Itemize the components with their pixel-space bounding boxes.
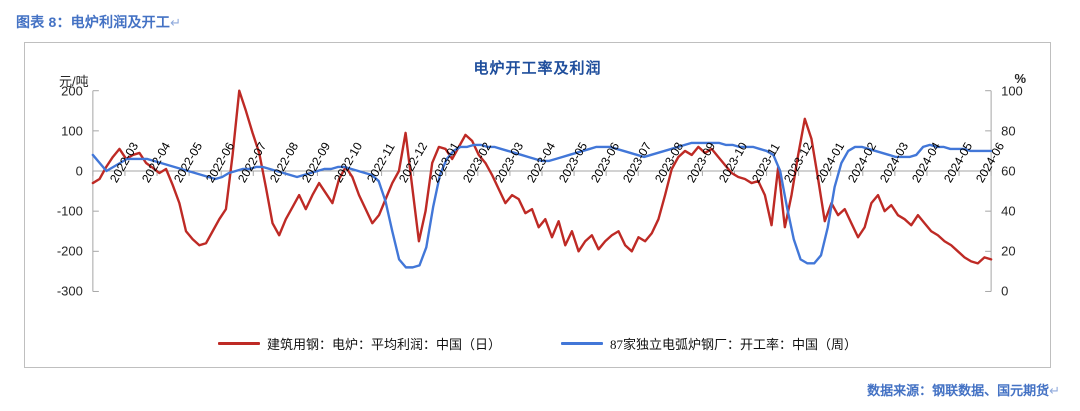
data-source-note: 数据来源：钢联数据、国元期货↵ (867, 380, 1060, 399)
y-tick-right: 0 (1001, 284, 1008, 299)
figure-caption-text: 图表 8：电炉利润及开工 (16, 14, 170, 30)
y-tick-left: -100 (25, 204, 83, 219)
legend-item-operating-rate[interactable]: 87家独立电弧炉钢厂：开工率：中国（周） (561, 334, 857, 353)
legend-swatch-operating-rate (561, 342, 603, 345)
legend-swatch-profit (218, 342, 260, 345)
y-tick-right: 100 (1001, 83, 1023, 98)
y-tick-left: 200 (25, 83, 83, 98)
y-tick-left: 0 (25, 164, 83, 179)
figure-panel: 图表 8：电炉利润及开工↵ 电炉开工率及利润 元/吨 % -300-200-10… (0, 0, 1080, 411)
paragraph-mark-icon-2: ↵ (1049, 383, 1060, 398)
paragraph-mark-icon: ↵ (170, 15, 181, 30)
y-tick-left: 100 (25, 123, 83, 138)
legend-label-operating-rate: 87家独立电弧炉钢厂：开工率：中国（周） (610, 334, 857, 353)
chart-container: 电炉开工率及利润 元/吨 % -300-200-1000100200 02040… (24, 42, 1051, 368)
y-tick-right: 20 (1001, 244, 1015, 259)
legend-label-profit: 建筑用钢：电炉：平均利润：中国（日） (267, 334, 501, 353)
y-tick-left: -300 (25, 284, 83, 299)
figure-caption: 图表 8：电炉利润及开工↵ (16, 12, 181, 32)
chart-plot-area (25, 43, 1050, 367)
y-tick-right: 40 (1001, 204, 1015, 219)
data-source-text: 数据来源：钢联数据、国元期货 (867, 383, 1049, 398)
y-tick-right: 60 (1001, 164, 1015, 179)
chart-legend: 建筑用钢：电炉：平均利润：中国（日） 87家独立电弧炉钢厂：开工率：中国（周） (25, 334, 1050, 353)
legend-item-profit[interactable]: 建筑用钢：电炉：平均利润：中国（日） (218, 334, 501, 353)
y-tick-left: -200 (25, 244, 83, 259)
y-tick-right: 80 (1001, 123, 1015, 138)
